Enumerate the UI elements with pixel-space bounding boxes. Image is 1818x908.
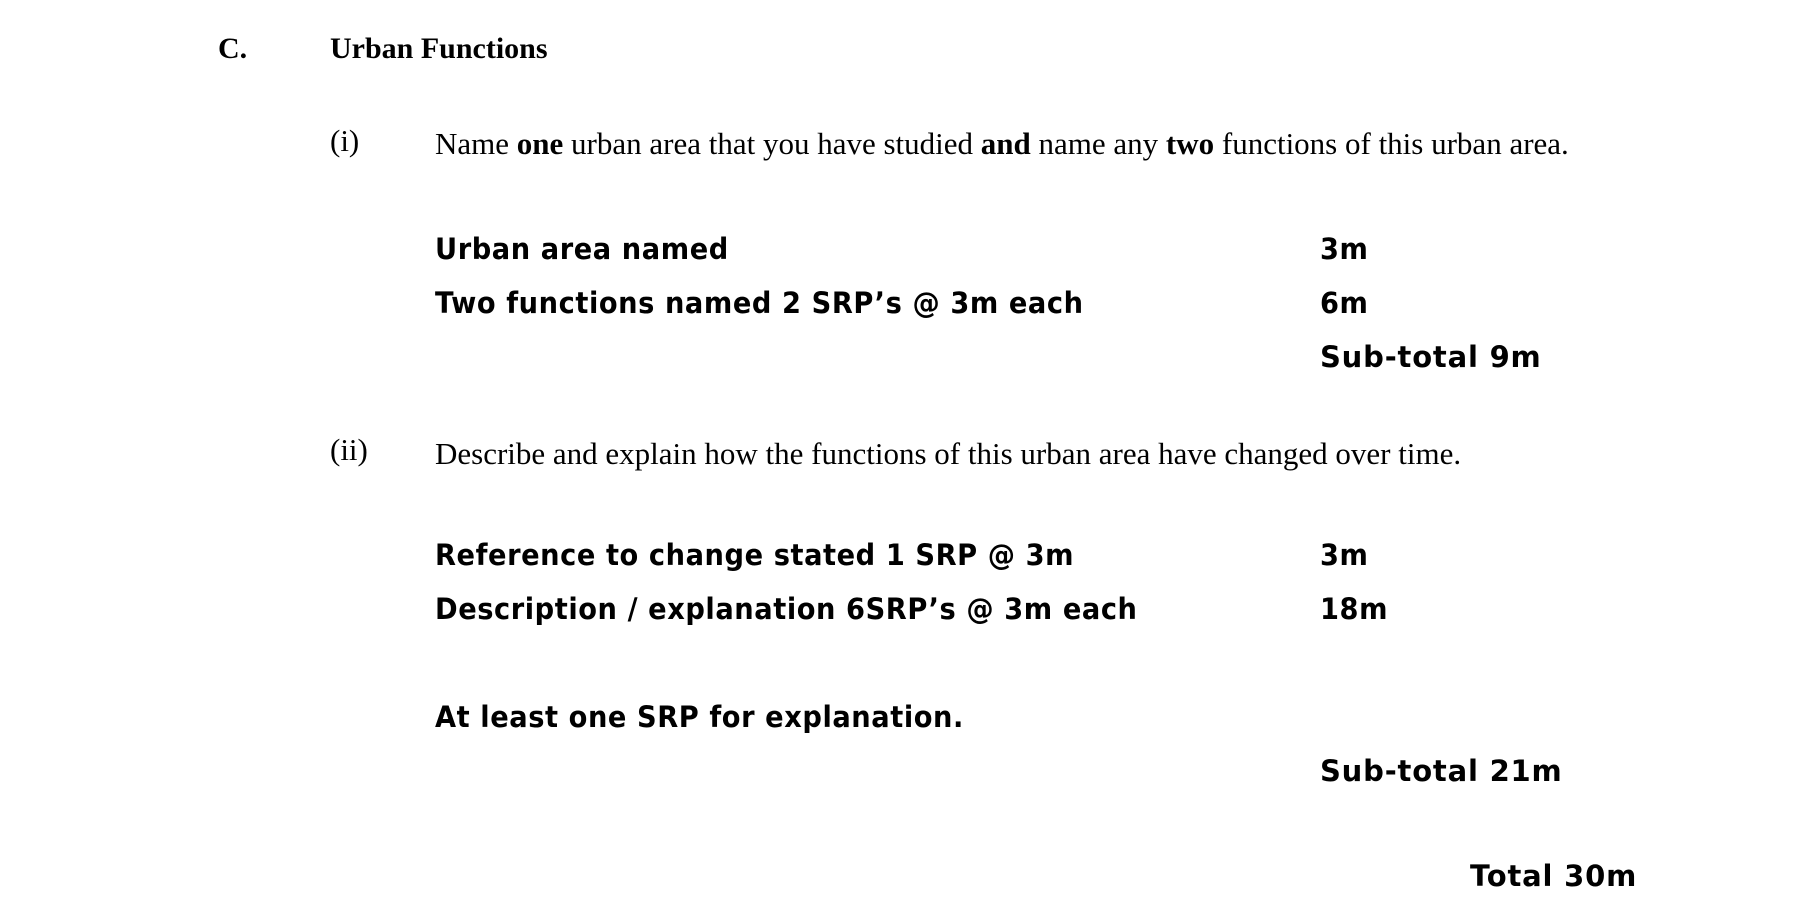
marking-criterion-description-explanation: Description / explanation 6SRP’s @ 3m ea…	[435, 586, 1138, 632]
marking-marks-reference-to-change: 3m	[1320, 532, 1369, 578]
emphasis-word: and	[981, 126, 1031, 161]
question-text-i: Name one urban area that you have studie…	[435, 120, 1625, 168]
marking-marks-urban-area-named: 3m	[1320, 226, 1369, 272]
marking-note-at-least-one-srp: At least one SRP for explanation.	[435, 694, 964, 740]
marking-marks-two-functions-named: 6m	[1320, 280, 1369, 326]
emphasis-word: one	[517, 126, 564, 161]
question-fragment: name any	[1031, 126, 1166, 161]
grand-total: Total 30m	[1470, 853, 1637, 899]
question-fragment: Describe and explain how the functions o…	[435, 436, 1461, 471]
question-fragment: functions of this urban area.	[1214, 126, 1569, 161]
question-fragment: Name	[435, 126, 517, 161]
question-fragment: urban area that you have studied	[563, 126, 981, 161]
marking-criterion-two-functions-named: Two functions named 2 SRP’s @ 3m each	[435, 280, 1084, 326]
emphasis-word: two	[1166, 126, 1214, 161]
subtotal-part-i: Sub-total 9m	[1320, 334, 1542, 380]
section-title: Urban Functions	[330, 32, 548, 66]
part-label-i: (i)	[330, 123, 359, 159]
marking-criterion-reference-to-change: Reference to change stated 1 SRP @ 3m	[435, 532, 1074, 578]
subtotal-part-ii: Sub-total 21m	[1320, 748, 1563, 794]
marking-marks-description-explanation: 18m	[1320, 586, 1388, 632]
document-page: C. Urban Functions (i) Name one urban ar…	[0, 0, 1818, 908]
question-text-ii: Describe and explain how the functions o…	[435, 430, 1625, 478]
marking-criterion-urban-area-named: Urban area named	[435, 226, 729, 272]
section-letter: C.	[218, 32, 247, 66]
part-label-ii: (ii)	[330, 432, 368, 468]
